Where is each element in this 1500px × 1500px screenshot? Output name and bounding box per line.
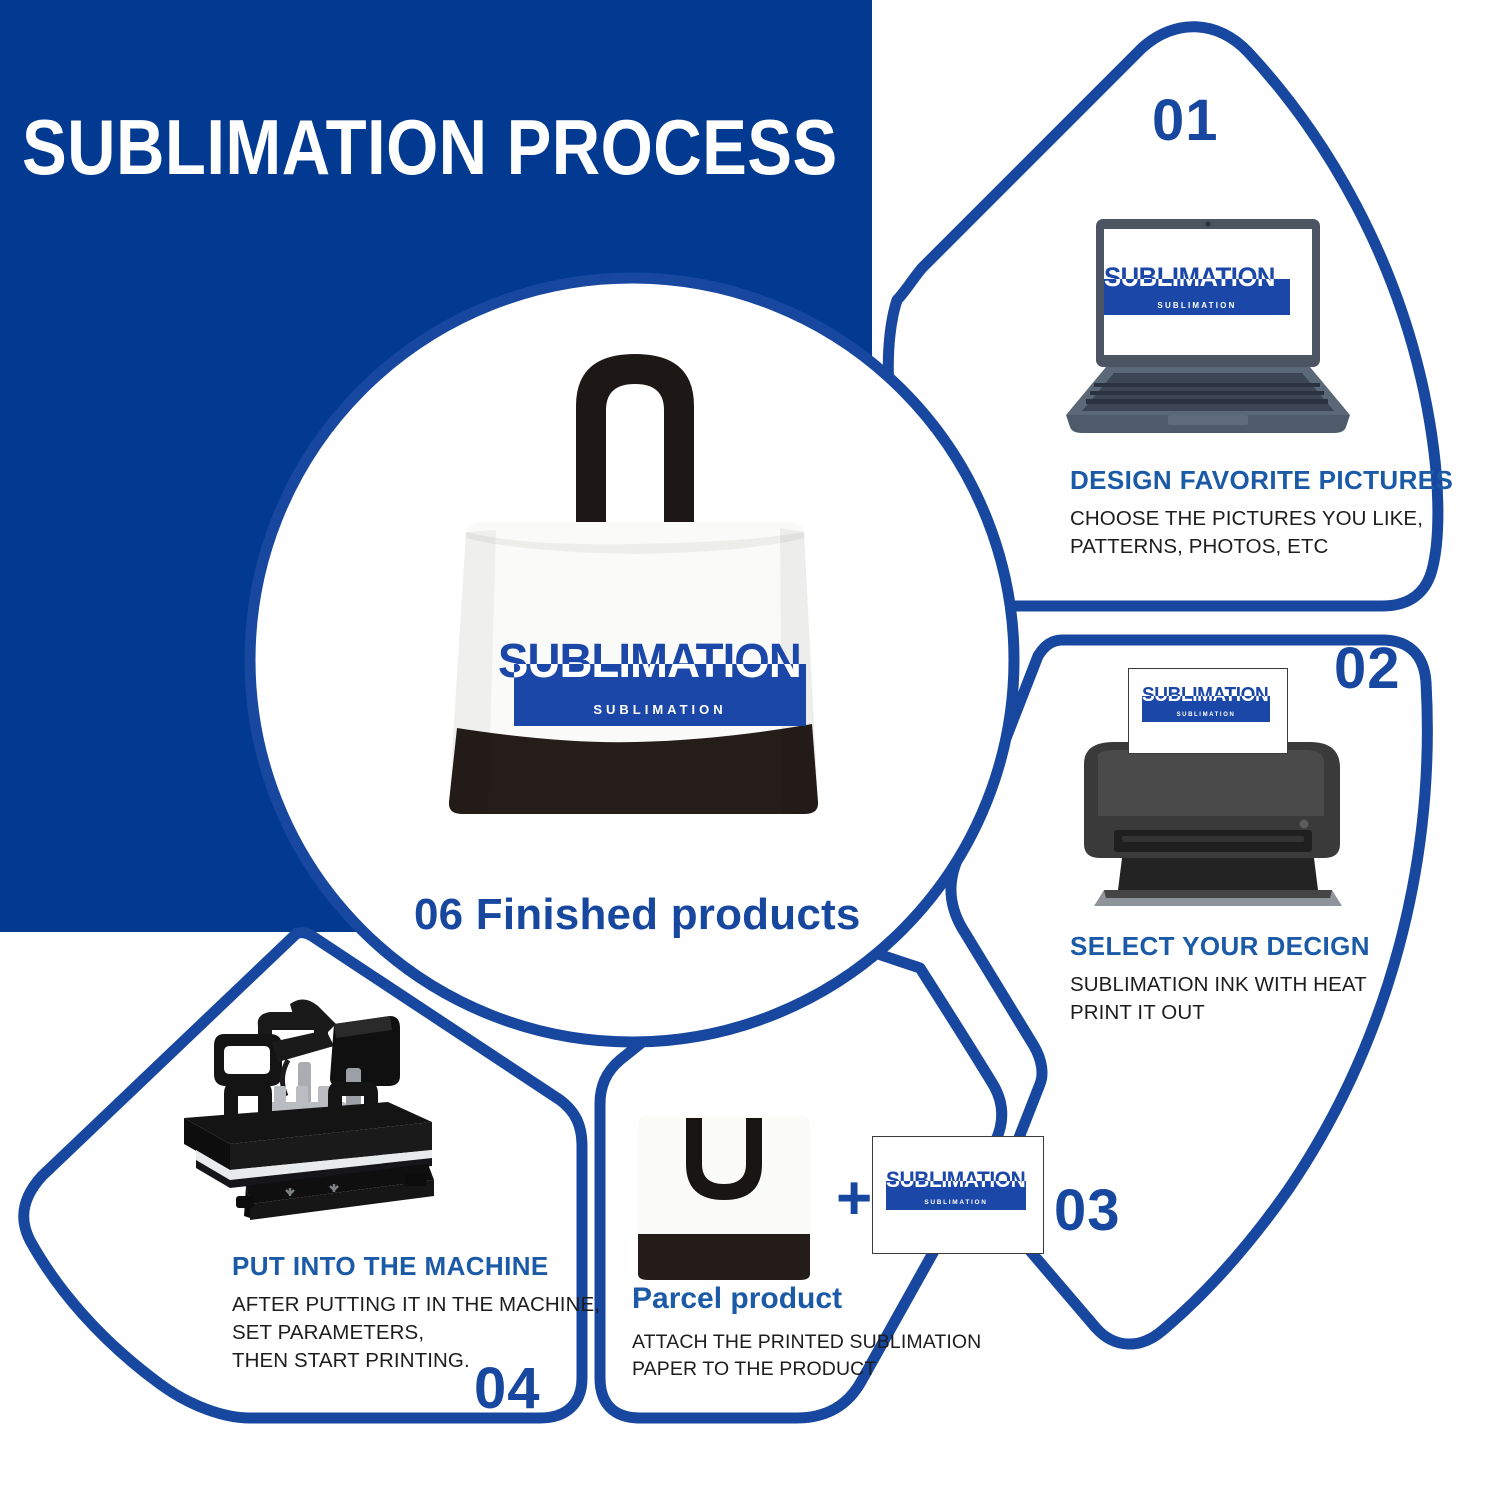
step-body-line: PATTERNS, PHOTOS, ETC (1070, 533, 1430, 561)
step-body-line: ATTACH THE PRINTED SUBLIMATION (632, 1329, 1012, 1356)
laptop-icon (1048, 215, 1368, 447)
step-block-02: SELECT YOUR DECIGN SUBLIMATION INK WITH … (1070, 932, 1410, 1027)
logo-wordmark-knockout: SUBLIMATION (514, 664, 801, 684)
step-body-line: PAPER TO THE PRODUCT (632, 1356, 1012, 1383)
logo-wordmark-knockout: SUBLIMATION (886, 1181, 1025, 1190)
step-body-01: CHOOSE THE PICTURES YOU LIKE, PATTERNS, … (1070, 505, 1430, 562)
step-body-02: SUBLIMATION INK WITH HEAT PRINT IT OUT (1070, 971, 1410, 1028)
step-body-line: PRINT IT OUT (1070, 999, 1410, 1027)
step-heading-02: SELECT YOUR DECIGN (1070, 932, 1410, 962)
step-body-line: SUBLIMATION INK WITH HEAT (1070, 971, 1410, 999)
logo-subtext: SUBLIMATION (514, 702, 806, 717)
tote-bag-large-icon (400, 332, 870, 872)
logo-subtext: SUBLIMATION (1142, 712, 1270, 718)
step-body-line: SET PARAMETERS, (232, 1319, 592, 1347)
logo-wordmark-knockout: SUBLIMATION (1104, 279, 1275, 290)
step-number-03: 03 (1054, 1182, 1121, 1240)
tote-bag-small-icon (624, 1108, 824, 1288)
sublimation-logo-printer: SUBLIMATION SUBLIMATION SUBLIMATION (1142, 686, 1274, 730)
step-heading-01: DESIGN FAVORITE PICTURES (1070, 466, 1430, 496)
step-block-01: DESIGN FAVORITE PICTURES CHOOSE THE PICT… (1070, 466, 1430, 561)
step-body-04: AFTER PUTTING IT IN THE MACHINE, SET PAR… (232, 1291, 592, 1376)
heat-press-icon (138, 990, 478, 1240)
step-body-line: CHOOSE THE PICTURES YOU LIKE, (1070, 505, 1430, 533)
step-heading-03: Parcel product (632, 1282, 1012, 1316)
logo-subtext: SUBLIMATION (886, 1199, 1026, 1206)
step-body-03: ATTACH THE PRINTED SUBLIMATION PAPER TO … (632, 1329, 1012, 1383)
logo-subtext: SUBLIMATION (1104, 301, 1290, 310)
sublimation-logo-paper: SUBLIMATION SUBLIMATION SUBLIMATION (886, 1170, 1032, 1220)
logo-wordmark-knockout: SUBLIMATION (1142, 696, 1268, 704)
logo-box: SUBLIMATION (1142, 696, 1270, 722)
step-block-03: Parcel product ATTACH THE PRINTED SUBLIM… (632, 1282, 1012, 1383)
plus-icon: + (836, 1168, 872, 1230)
step-number-01: 01 (1152, 92, 1219, 150)
infographic-canvas: SUBLIMATION PROCESS 01 SUBLIMATION (0, 0, 1500, 1500)
sublimation-logo-tote: SUBLIMATION SUBLIMATION SUBLIMATION (498, 640, 818, 740)
step-body-line: THEN START PRINTING. (232, 1347, 592, 1375)
step-block-04: PUT INTO THE MACHINE AFTER PUTTING IT IN… (232, 1252, 592, 1376)
step-heading-04: PUT INTO THE MACHINE (232, 1252, 592, 1282)
sublimation-logo-laptop: SUBLIMATION SUBLIMATION SUBLIMATION (1104, 265, 1300, 325)
step-body-line: AFTER PUTTING IT IN THE MACHINE, (232, 1291, 592, 1319)
step-number-02: 02 (1334, 640, 1401, 698)
center-caption: 06 Finished products (414, 890, 861, 940)
